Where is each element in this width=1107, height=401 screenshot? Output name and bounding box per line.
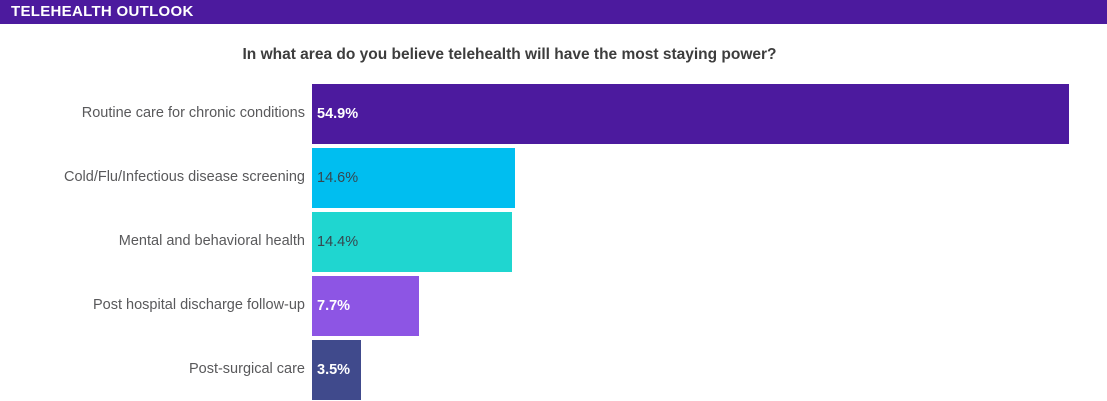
bar-category-label: Cold/Flu/Infectious disease screening: [64, 170, 305, 185]
bar-category-label: Routine care for chronic conditions: [82, 106, 305, 121]
bar[interactable]: 3.5%: [312, 340, 361, 400]
bar-value-label: 54.9%: [312, 107, 358, 122]
bar-category-label: Post-surgical care: [189, 362, 305, 377]
bar-value-label: 3.5%: [312, 363, 350, 378]
bar-category-label: Mental and behavioral health: [119, 234, 305, 249]
chart-title: In what area do you believe telehealth w…: [0, 46, 1107, 64]
chart-plot-area: Routine care for chronic conditions54.9%…: [0, 77, 1107, 401]
bar[interactable]: 14.6%: [312, 148, 515, 208]
chart-title-text: In what area do you believe telehealth w…: [242, 46, 776, 64]
bar[interactable]: 54.9%: [312, 84, 1069, 144]
bar[interactable]: 7.7%: [312, 276, 419, 336]
bar-row: Post hospital discharge follow-up7.7%: [0, 276, 1107, 336]
app-header-bar: TELEHEALTH OUTLOOK: [0, 0, 1107, 24]
app-title: TELEHEALTH OUTLOOK: [11, 3, 194, 21]
bar-value-label: 7.7%: [312, 299, 350, 314]
bar-category-label: Post hospital discharge follow-up: [93, 298, 305, 313]
bar-row: Routine care for chronic conditions54.9%: [0, 84, 1107, 144]
bar-row: Mental and behavioral health14.4%: [0, 212, 1107, 272]
bar-value-label: 14.6%: [312, 171, 358, 186]
bar-row: Cold/Flu/Infectious disease screening14.…: [0, 148, 1107, 208]
bar-value-label: 14.4%: [312, 235, 358, 250]
bar[interactable]: 14.4%: [312, 212, 512, 272]
bar-row: Post-surgical care3.5%: [0, 340, 1107, 400]
